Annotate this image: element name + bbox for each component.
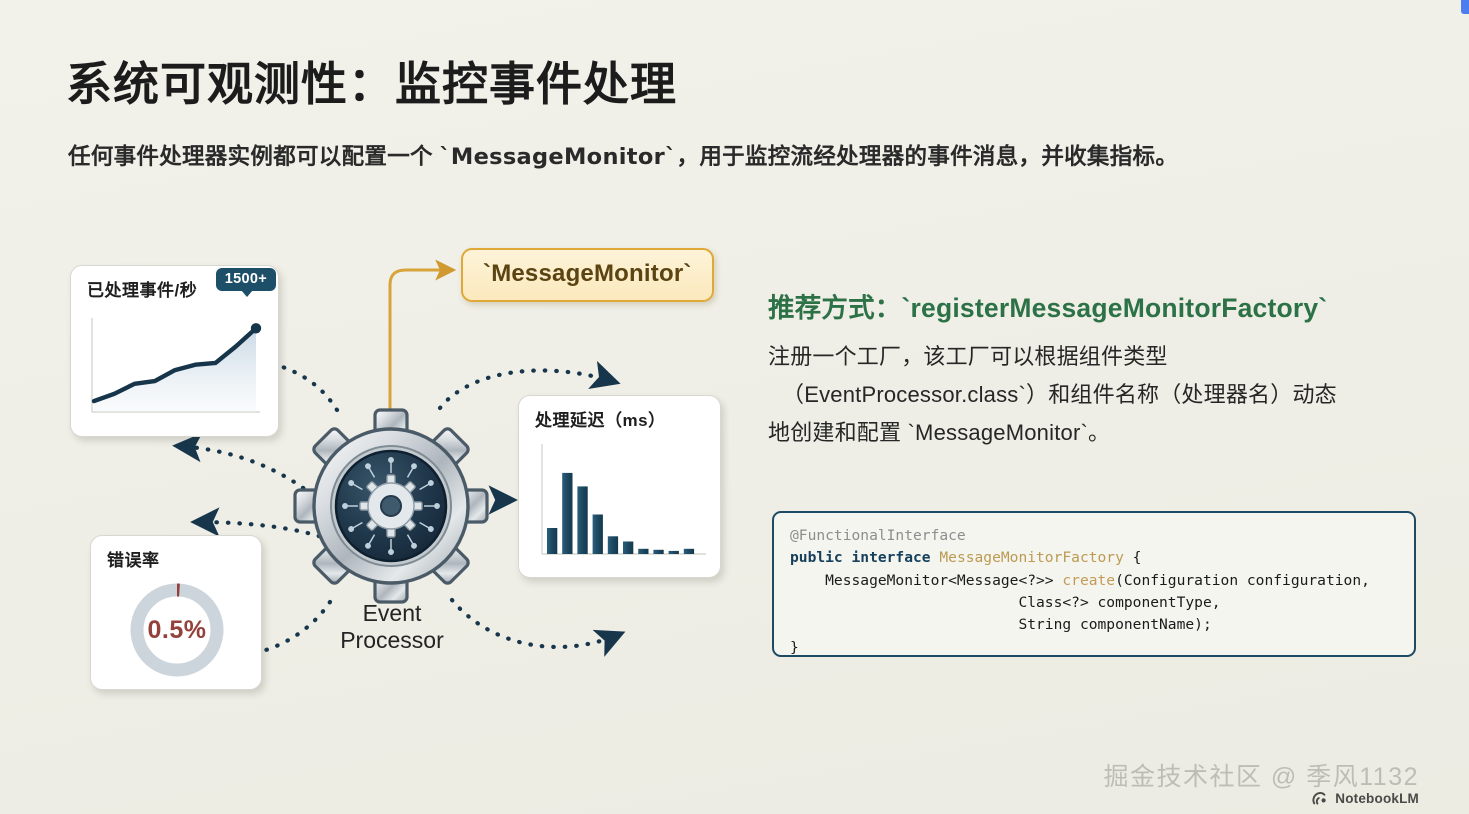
code-token: } — [790, 639, 799, 656]
recommendation-heading: 推荐方式：`registerMessageMonitorFactory` — [768, 286, 1327, 325]
throughput-sparkline — [86, 308, 266, 426]
histogram-bar — [684, 549, 694, 554]
code-token: MessageMonitor<Message<?>> — [790, 572, 1062, 589]
code-token: public interface — [790, 549, 939, 566]
code-token: String componentName); — [790, 616, 1212, 633]
histogram-bar — [638, 549, 648, 554]
code-token: (Configuration configuration, — [1115, 572, 1370, 589]
notebooklm-label: NotebookLM — [1335, 791, 1419, 806]
latency-histogram — [534, 438, 709, 566]
message-monitor-node[interactable]: `MessageMonitor` — [461, 248, 714, 302]
gear-circuit-icon — [295, 410, 487, 602]
error-rate-value: 0.5% — [109, 616, 245, 645]
card-title-error-rate: 错误率 — [107, 546, 160, 571]
subtitle-text-before: 任何事件处理器实例都可以配置一个 — [68, 144, 439, 169]
histogram-bar — [653, 550, 663, 554]
page-title: 系统可观测性：监控事件处理 — [66, 48, 677, 114]
recommendation-body: 注册一个工厂，该工厂可以根据组件类型（EventProcessor.class`… — [768, 338, 1416, 451]
recommendation-body-line: 注册一个工厂，该工厂可以根据组件类型 — [768, 338, 1416, 376]
throughput-badge: 1500+ — [216, 268, 276, 291]
metric-card-error-rate[interactable]: 错误率 0.5% — [90, 535, 262, 690]
card-title-throughput: 已处理事件/秒 — [87, 276, 197, 301]
subtitle-code-token: `MessageMonitor` — [439, 144, 676, 170]
center-node-label-line2: Processor — [290, 627, 494, 654]
recommendation-body-line: 地创建和配置 `MessageMonitor`。 — [768, 414, 1416, 452]
sparkline-svg — [86, 308, 266, 426]
metric-card-latency[interactable]: 处理延迟（ms） — [518, 395, 721, 578]
histogram-bar — [593, 515, 603, 555]
center-node-label-line1: Event — [290, 600, 494, 627]
histogram-bar — [562, 473, 572, 554]
architecture-diagram: 已处理事件/秒 1500+ — [0, 210, 760, 710]
notebooklm-icon — [1312, 791, 1329, 806]
scrollbar-sliver[interactable] — [1461, 0, 1469, 14]
watermark-text: 掘金技术社区 @ 季风1132 — [1103, 757, 1419, 793]
notebooklm-brand: NotebookLM — [1312, 791, 1419, 806]
histogram-bar — [669, 551, 679, 554]
histogram-bar — [608, 536, 618, 554]
metric-card-throughput[interactable]: 已处理事件/秒 1500+ — [70, 265, 279, 437]
code-token: create — [1062, 572, 1115, 589]
code-token: Class<?> componentType, — [790, 594, 1221, 611]
histogram-bar — [547, 528, 557, 554]
histogram-bar — [577, 486, 587, 554]
histogram-bar — [623, 542, 633, 555]
code-token: @FunctionalInterface — [790, 527, 966, 544]
page-subtitle: 任何事件处理器实例都可以配置一个 `MessageMonitor`，用于监控流经… — [68, 139, 1178, 171]
error-rate-donut: 0.5% — [109, 572, 245, 684]
center-node-label: Event Processor — [290, 600, 494, 653]
slide-canvas: 系统可观测性：监控事件处理 任何事件处理器实例都可以配置一个 `MessageM… — [0, 0, 1469, 814]
code-snippet[interactable]: @FunctionalInterface public interface Me… — [772, 511, 1416, 657]
histogram-svg — [534, 438, 709, 566]
card-title-latency: 处理延迟（ms） — [535, 406, 666, 431]
subtitle-text-after: ，用于监控流经处理器的事件消息，并收集指标。 — [677, 144, 1179, 169]
code-token: { — [1124, 549, 1142, 566]
code-token: MessageMonitorFactory — [939, 549, 1124, 566]
recommendation-body-line: （EventProcessor.class`）和组件名称（处理器名）动态 — [768, 376, 1416, 414]
